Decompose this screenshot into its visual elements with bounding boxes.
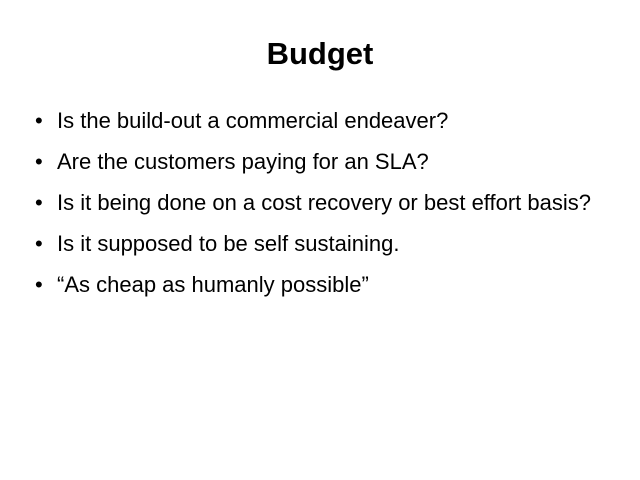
list-item: • Is it being done on a cost recovery or… <box>28 188 620 217</box>
list-item: • Are the customers paying for an SLA? <box>28 147 620 176</box>
bullet-list: • Is the build-out a commercial endeaver… <box>28 106 620 299</box>
bullet-point-icon: • <box>35 106 51 135</box>
list-item-label: Is it being done on a cost recovery or b… <box>57 188 620 217</box>
list-item: • Is it supposed to be self sustaining. <box>28 229 620 258</box>
list-item: • “As cheap as humanly possible” <box>28 270 620 299</box>
list-item: • Is the build-out a commercial endeaver… <box>28 106 620 135</box>
bullet-point-icon: • <box>35 188 51 217</box>
list-item-label: “As cheap as humanly possible” <box>57 270 620 299</box>
bullet-point-icon: • <box>35 270 51 299</box>
list-item-label: Is it supposed to be self sustaining. <box>57 229 620 258</box>
list-item-label: Is the build-out a commercial endeaver? <box>57 106 620 135</box>
page-title: Budget <box>0 36 640 72</box>
bullet-point-icon: • <box>35 147 51 176</box>
list-item-label: Are the customers paying for an SLA? <box>57 147 620 176</box>
bullet-point-icon: • <box>35 229 51 258</box>
slide: Budget • Is the build-out a commercial e… <box>0 0 640 480</box>
